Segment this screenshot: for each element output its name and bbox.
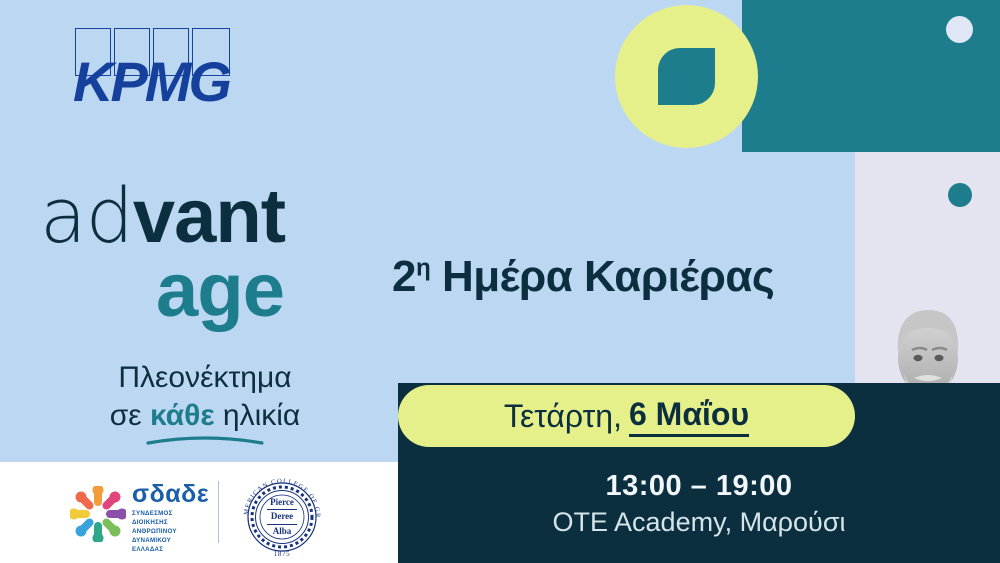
advantage-ad-text: ad — [40, 171, 133, 260]
advantage-vant-text: vant — [133, 174, 285, 259]
headline-ordinal-suffix: η — [416, 254, 430, 281]
sdade-subtitle-line-2: ΑΝΘΡΩΠΙΝΟΥ ΔΥΝΑΜΙΚΟΥ — [132, 528, 210, 546]
light-dot-icon — [946, 16, 973, 43]
advantage-line-1: advant — [40, 180, 370, 253]
sdade-text-block: σδαδε ΣΥΝΔΕΣΜΟΣ ΔΙΟΙΚΗΣΗΣ ΑΝΘΡΩΠΙΝΟΥ ΔΥΝ… — [132, 482, 210, 555]
sdade-pinwheel-icon — [70, 486, 126, 542]
headline-text: Ημέρα Καριέρας — [430, 252, 774, 301]
advantage-tagline: Πλεονέκτημα σε κάθε ηλικία — [40, 359, 370, 445]
tagline-underline-swoosh-icon — [146, 435, 264, 445]
date-day-month: 6 Μαΐου — [629, 396, 749, 437]
sdade-logo: σδαδε ΣΥΝΔΕΣΜΟΣ ΔΙΟΙΚΗΣΗΣ ΑΝΘΡΩΠΙΝΟΥ ΔΥΝ… — [70, 482, 210, 544]
event-time: 13:00 – 19:00 — [398, 470, 1000, 503]
acg-line-1: Pierce — [270, 497, 294, 508]
headline-number: 2 — [392, 252, 416, 301]
event-details: 13:00 – 19:00 OTE Academy, Μαρούσι — [398, 470, 1000, 538]
event-poster: KPMG advant age Πλεονέκτημα σε κάθε ηλικ… — [0, 0, 1000, 563]
date-badge: Τετάρτη, 6 Μαΐου — [398, 385, 855, 447]
logo-divider — [218, 481, 219, 543]
sdade-wordmark: σδαδε — [132, 482, 210, 507]
acg-name-lines: Pierce Deree Alba — [234, 475, 330, 559]
acg-year: 1875 — [234, 550, 330, 558]
teal-dot-icon — [948, 183, 972, 207]
tagline-before: σε — [110, 399, 150, 432]
date-weekday: Τετάρτη, — [504, 398, 622, 435]
page-title: 2η Ημέρα Καριέρας — [392, 252, 774, 302]
acg-line-3: Alba — [273, 526, 292, 537]
leaf-petal-icon — [658, 48, 715, 105]
tagline-highlight: κάθε — [150, 399, 215, 432]
sdade-subtitle-line-3: ΕΛΛΑΔΑΣ — [132, 546, 210, 555]
acg-logo: THE AMERICAN COLLEGE OF GREECE Pierce De… — [234, 475, 330, 559]
kpmg-wordmark: KPMG — [73, 54, 229, 110]
kpmg-logo: KPMG — [75, 28, 240, 108]
tagline-line-2: σε κάθε ηλικία — [40, 397, 370, 435]
sdade-subtitle: ΣΥΝΔΕΣΜΟΣ ΔΙΟΙΚΗΣΗΣ ΑΝΘΡΩΠΙΝΟΥ ΔΥΝΑΜΙΚΟΥ… — [132, 510, 210, 555]
advantage-age-text: age — [40, 253, 370, 329]
event-venue: OTE Academy, Μαρούσι — [398, 507, 1000, 538]
advantage-logo: advant age Πλεονέκτημα σε κάθε ηλικία — [40, 180, 370, 445]
tagline-after: ηλικία — [215, 399, 301, 432]
tagline-line-1: Πλεονέκτημα — [40, 359, 370, 397]
acg-line-2: Deree — [267, 509, 297, 524]
sdade-subtitle-line-1: ΣΥΝΔΕΣΜΟΣ ΔΙΟΙΚΗΣΗΣ — [132, 510, 210, 528]
